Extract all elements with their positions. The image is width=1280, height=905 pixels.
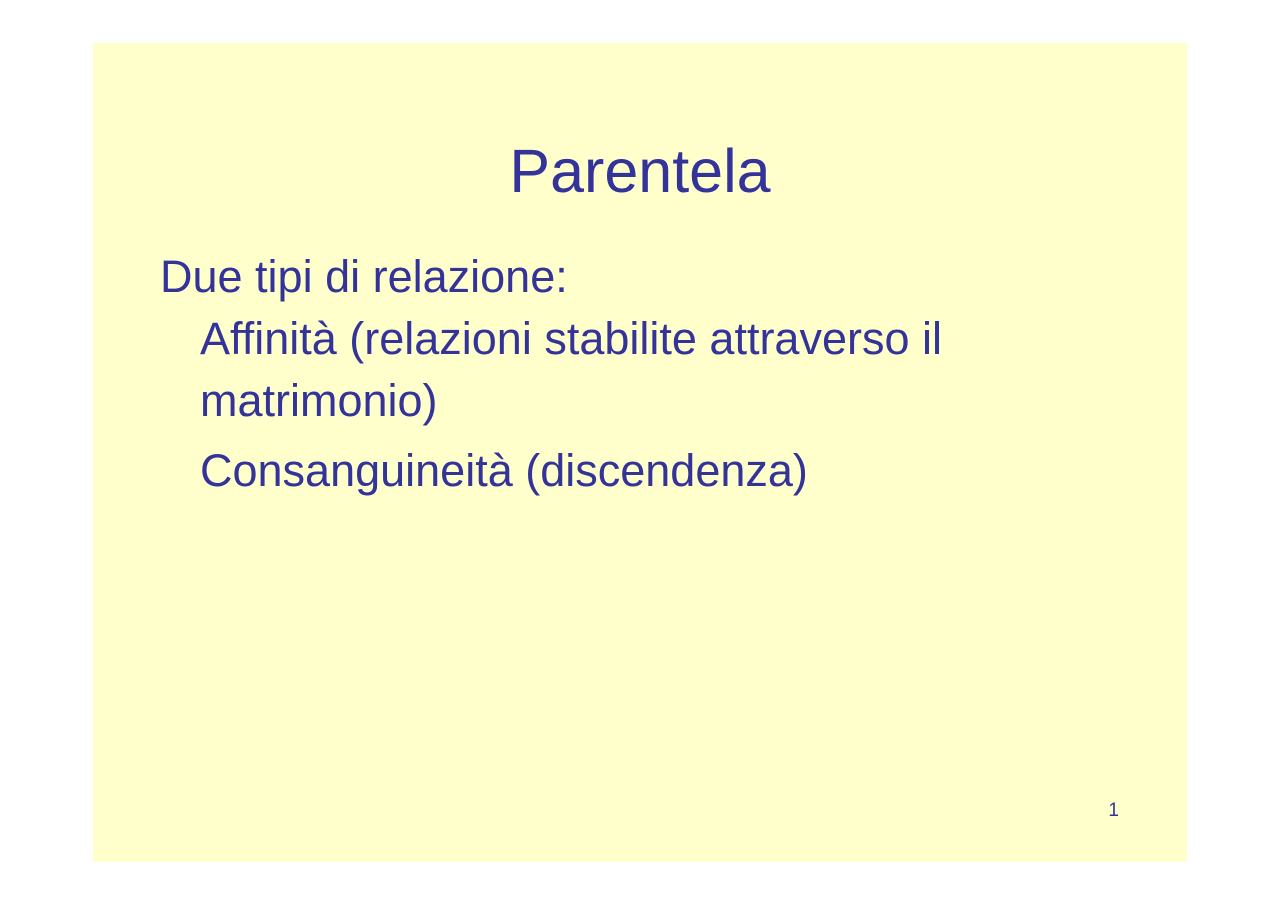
page-number: 1 <box>1108 801 1119 820</box>
page-title: Parentela <box>93 141 1187 202</box>
bullet-level2-affinita-line2: matrimonio) <box>200 370 1145 432</box>
slide-canvas: Parentela Due tipi di relazione: Affinit… <box>93 43 1187 862</box>
bullet-level1-intro: Due tipi di relazione: <box>160 246 1145 308</box>
bullet-level2-consanguineita: Consanguineità (discendenza) <box>200 440 1145 502</box>
bullet-level2-affinita-line1: Affinità (relazioni stabilite attraverso… <box>200 308 1145 370</box>
slide-body-content: Due tipi di relazione: Affinità (relazio… <box>160 246 1145 502</box>
